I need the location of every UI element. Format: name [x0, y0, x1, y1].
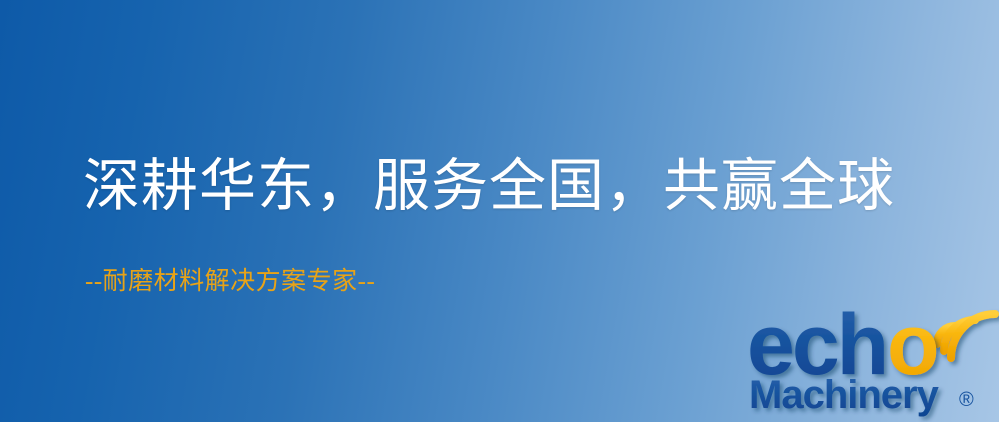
signal-waves-icon — [937, 314, 995, 358]
banner-subtitle: --耐磨材料解决方案专家-- — [85, 266, 375, 298]
echo-machinery-logo[interactable]: ech o Machinery ® — [745, 296, 999, 422]
logo-wordmark-machinery: Machinery — [749, 373, 940, 417]
promo-banner: 深耕华东，服务全国，共赢全球 --耐磨材料解决方案专家-- — [0, 0, 999, 422]
banner-headline: 深耕华东，服务全国，共赢全球 — [83, 152, 895, 222]
registered-trademark-icon: ® — [959, 389, 974, 411]
